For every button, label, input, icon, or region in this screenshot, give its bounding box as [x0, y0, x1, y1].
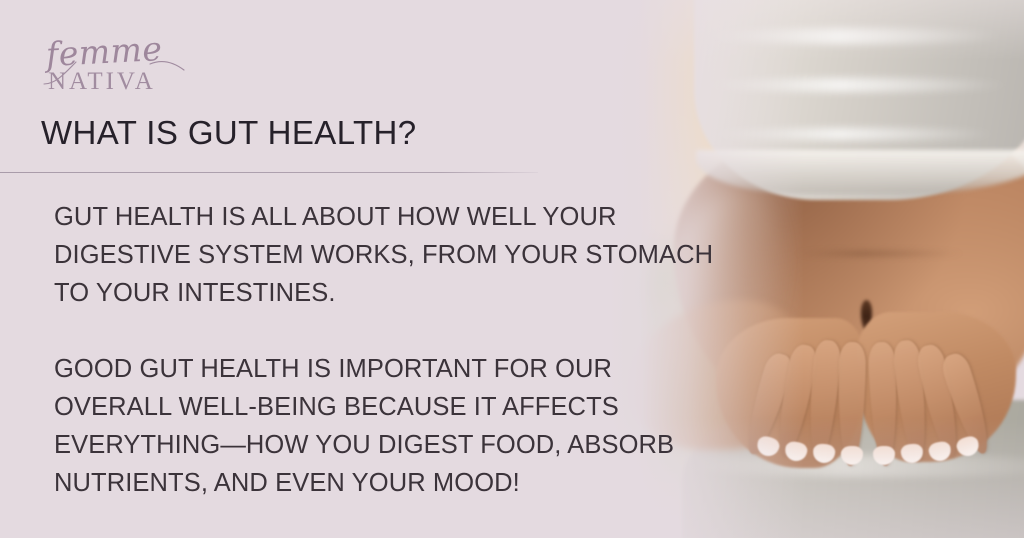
logo-word-text: NATIVA	[48, 68, 156, 96]
slide-canvas: femme NATIVA WHAT IS GUT HEALTH? GUT HEA…	[0, 0, 1024, 538]
brand-logo[interactable]: femme NATIVA	[40, 32, 190, 98]
page-title: WHAT IS GUT HEALTH?	[41, 114, 417, 152]
body-copy: GUT HEALTH IS ALL ABOUT HOW WELL YOUR DI…	[54, 198, 714, 502]
photo-abdomen-crease	[794, 250, 964, 257]
paragraph-2: GOOD GUT HEALTH IS IMPORTANT FOR OUR OVE…	[54, 350, 714, 502]
title-divider	[0, 172, 538, 173]
paragraph-1: GUT HEALTH IS ALL ABOUT HOW WELL YOUR DI…	[54, 198, 714, 312]
